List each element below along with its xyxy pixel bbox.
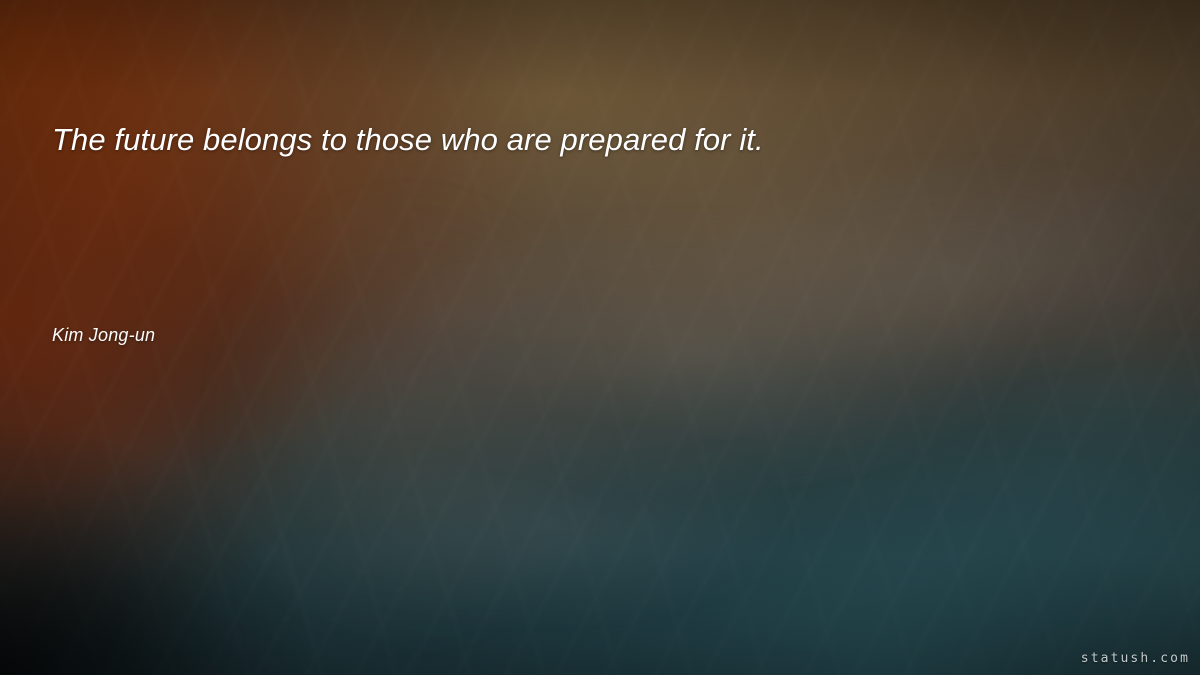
watermark-statush: statush.com <box>1081 651 1190 666</box>
quote-card: The future belongs to those who are prep… <box>0 0 1200 675</box>
quote-content: The future belongs to those who are prep… <box>0 0 1200 675</box>
quote-author: Kim Jong-un <box>52 325 155 346</box>
quote-text: The future belongs to those who are prep… <box>52 120 1142 160</box>
